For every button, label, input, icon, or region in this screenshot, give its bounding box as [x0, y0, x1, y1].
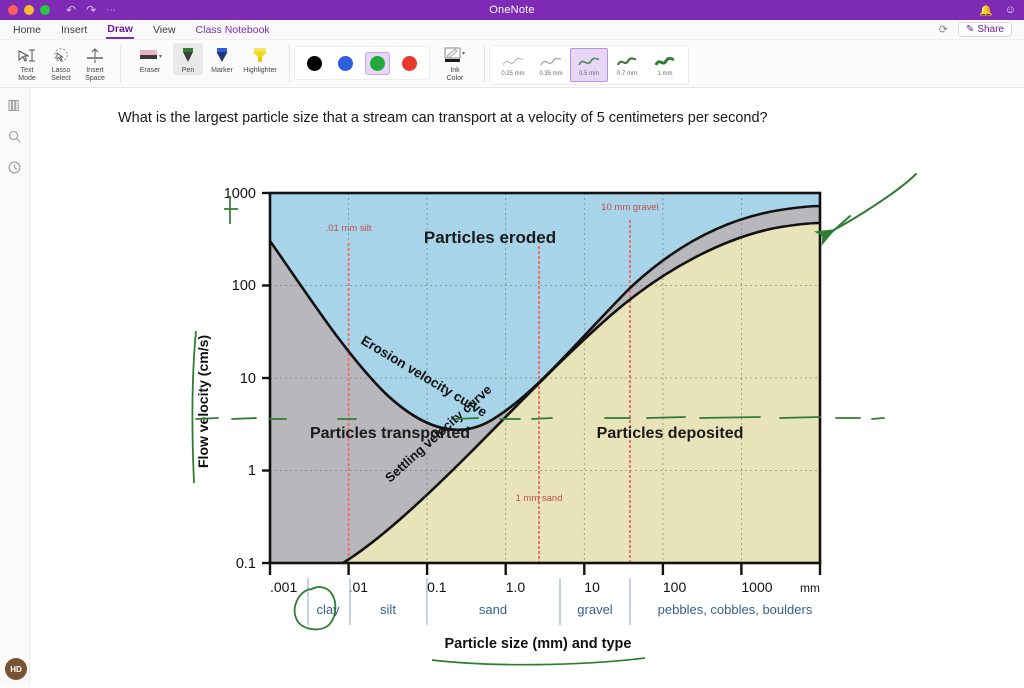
- x-axis: .001 .01 0.1 1.0 10 100 1000 mm: [270, 563, 820, 652]
- text-mode-label-2: Mode: [18, 75, 36, 83]
- ink-color-icon: ▾: [442, 45, 468, 67]
- text-mode-button[interactable]: Text Mode: [12, 43, 42, 83]
- hjulstrom-diagram: .01 mm silt 1 mm sand 10 mm gravel Parti…: [160, 138, 960, 688]
- region-label-eroded-line1: Particles eroded: [424, 228, 556, 247]
- y-tick-10: 10: [240, 371, 256, 387]
- lasso-select-icon: [50, 45, 72, 67]
- tab-home[interactable]: Home: [12, 22, 42, 38]
- green-arrow-barb: [832, 216, 850, 232]
- window-title-bar: ↶ ↷ ⋯ OneNote 🔔 ☺: [0, 0, 1024, 20]
- ink-color-group: ▾ Ink Color: [430, 43, 480, 87]
- green-underline-xaxis[interactable]: [432, 658, 645, 665]
- bell-icon[interactable]: 🔔: [979, 4, 993, 17]
- ink-color-label-1: Ink: [450, 67, 459, 75]
- tab-insert[interactable]: Insert: [60, 22, 88, 38]
- share-button-label: Share: [977, 24, 1004, 35]
- highlighter-button[interactable]: Highlighter: [241, 43, 279, 75]
- class-label-gravel: gravel: [577, 602, 613, 617]
- eraser-label: Eraser: [140, 67, 161, 75]
- search-icon[interactable]: [7, 129, 22, 144]
- insert-space-label-2: Space: [85, 75, 105, 83]
- x-tick-0001: .001: [270, 579, 297, 595]
- ink-color-palette: [294, 46, 430, 80]
- class-label-clay: clay: [316, 602, 340, 617]
- x-tick-01: 0.1: [427, 579, 447, 595]
- svg-text:▾: ▾: [159, 54, 162, 60]
- toolbar-divider-1: [120, 45, 121, 83]
- ellipsis-icon[interactable]: ⋯: [106, 5, 116, 16]
- minimize-window-button[interactable]: [24, 5, 34, 15]
- share-icon: ✎: [966, 24, 974, 35]
- lasso-select-button[interactable]: Lasso Select: [46, 43, 76, 83]
- x-axis-unit: mm: [800, 581, 820, 595]
- ribbon-tab-bar: Home Insert Draw View Class Notebook ⟳ ✎…: [0, 20, 1024, 40]
- undo-icon[interactable]: ↶: [66, 3, 76, 17]
- lasso-select-label-2: Select: [51, 75, 70, 83]
- y-axis: 1000 100 10 1 0.1 Flow velocity (cm/s): [195, 186, 270, 572]
- page-question-text: What is the largest particle size that a…: [118, 110, 768, 126]
- avatar[interactable]: HD: [5, 658, 27, 680]
- thickness-025mm[interactable]: 0.25 mm: [494, 48, 532, 82]
- marker-label: Marker: [211, 67, 233, 75]
- share-button[interactable]: ✎ Share: [958, 22, 1012, 37]
- x-tick-10: 1.0: [506, 579, 526, 595]
- traffic-lights[interactable]: [8, 5, 50, 15]
- color-swatch-blue[interactable]: [334, 53, 357, 74]
- account-smiley-icon[interactable]: ☺: [1005, 4, 1016, 16]
- color-swatch-black[interactable]: [303, 53, 326, 74]
- mode-tools-group: Text Mode Lasso Select Insert S: [6, 43, 116, 87]
- region-label-deposited: Particles deposited: [597, 425, 744, 442]
- thickness-035mm-label: 0.35 mm: [539, 71, 562, 77]
- thickness-025mm-label: 0.25 mm: [501, 71, 524, 77]
- redo-icon[interactable]: ↷: [86, 3, 96, 17]
- x-tick-001: .01: [349, 579, 369, 595]
- pen-button[interactable]: Pen: [173, 43, 203, 75]
- class-label-sand: sand: [479, 602, 507, 617]
- draw-ribbon-toolbar: Text Mode Lasso Select Insert S: [0, 40, 1024, 88]
- eraser-icon: ▾: [137, 45, 163, 67]
- y-tick-1: 1: [248, 463, 256, 479]
- note-canvas[interactable]: What is the largest particle size that a…: [30, 88, 1024, 686]
- eraser-button[interactable]: ▾ Eraser: [131, 43, 169, 75]
- recent-clock-icon[interactable]: [7, 160, 22, 175]
- x-axis-title: Particle size (mm) and type: [445, 636, 632, 652]
- pen-icon: [178, 45, 198, 67]
- ref-label-1mm-sand: 1 mm sand: [516, 493, 563, 504]
- thickness-1mm[interactable]: 1 mm: [646, 48, 684, 82]
- thickness-05mm-label: 0.5 mm: [579, 71, 599, 77]
- sync-refresh-icon[interactable]: ⟳: [939, 23, 948, 36]
- class-label-silt: silt: [380, 602, 396, 617]
- pen-label: Pen: [182, 67, 194, 75]
- ink-color-button[interactable]: ▾ Ink Color: [436, 43, 474, 83]
- insert-space-icon: [84, 45, 106, 67]
- window-title: OneNote: [0, 4, 1024, 16]
- insert-space-button[interactable]: Insert Space: [80, 43, 110, 83]
- ref-label-10mm-gravel: 10 mm gravel: [601, 202, 659, 213]
- green-arrow[interactable]: [832, 174, 916, 231]
- color-swatch-green[interactable]: [365, 52, 390, 75]
- left-sidebar: HD: [0, 88, 30, 686]
- class-label-pebbles: pebbles, cobbles, boulders: [658, 602, 813, 617]
- tab-view[interactable]: View: [152, 22, 177, 38]
- marker-icon: [212, 45, 232, 67]
- tab-class-notebook[interactable]: Class Notebook: [195, 22, 271, 38]
- chart-svg: .01 mm silt 1 mm sand 10 mm gravel Parti…: [160, 138, 960, 683]
- color-swatch-red[interactable]: [398, 53, 421, 74]
- pen-tools-group: ▾ Eraser Pen Marker: [125, 43, 285, 87]
- thickness-07mm[interactable]: 0.7 mm: [608, 48, 646, 82]
- svg-text:▾: ▾: [462, 51, 465, 57]
- thickness-07mm-label: 0.7 mm: [617, 71, 637, 77]
- thickness-05mm[interactable]: 0.5 mm: [570, 48, 608, 82]
- tab-draw[interactable]: Draw: [106, 21, 134, 39]
- pen-thickness-group: 0.25 mm 0.35 mm 0.5 mm 0.7 mm 1 mm: [489, 45, 689, 85]
- text-mode-icon: [16, 45, 38, 67]
- x-tick-100: 100: [663, 579, 687, 595]
- ink-color-label-2: Color: [447, 75, 464, 83]
- x-tick-1000: 1000: [741, 579, 772, 595]
- highlighter-icon: [249, 45, 271, 67]
- workspace: HD What is the largest particle size tha…: [0, 88, 1024, 686]
- insert-space-label-1: Insert: [86, 67, 104, 75]
- maximize-window-button[interactable]: [40, 5, 50, 15]
- y-tick-0p1: 0.1: [236, 556, 256, 572]
- x-tick-10mm: 10: [584, 579, 600, 595]
- y-tick-100: 100: [232, 278, 256, 294]
- y-axis-title: Flow velocity (cm/s): [195, 335, 211, 468]
- highlighter-label: Highlighter: [243, 67, 276, 75]
- text-mode-label-1: Text: [21, 67, 34, 75]
- lasso-select-label-1: Lasso: [52, 67, 71, 75]
- close-window-button[interactable]: [8, 5, 18, 15]
- toolbar-divider-3: [484, 45, 485, 83]
- y-tick-1000: 1000: [224, 186, 256, 202]
- marker-button[interactable]: Marker: [207, 43, 237, 75]
- thickness-035mm[interactable]: 0.35 mm: [532, 48, 570, 82]
- ref-label-01mm-silt: .01 mm silt: [326, 223, 372, 234]
- notebooks-icon[interactable]: [7, 98, 22, 113]
- toolbar-divider-2: [289, 45, 290, 83]
- thickness-1mm-label: 1 mm: [658, 71, 673, 77]
